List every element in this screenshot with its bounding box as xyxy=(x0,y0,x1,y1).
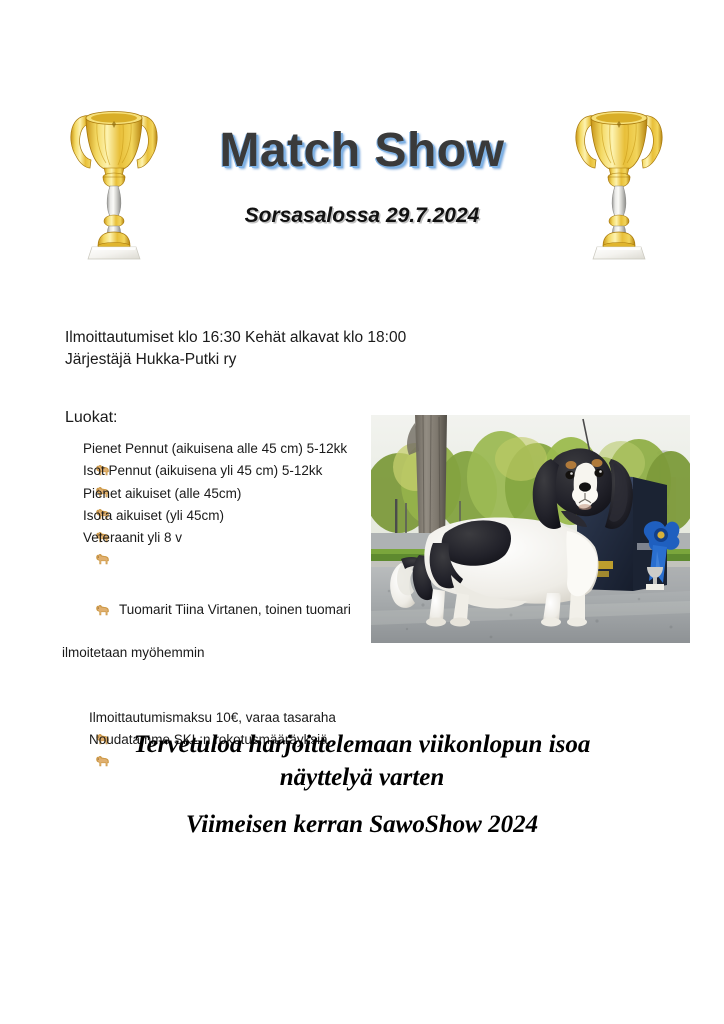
dog-bullet-icon xyxy=(65,463,80,477)
list-item: Ilmoittautumismaksu 10€, varaa tasaraha xyxy=(65,707,351,728)
list-item-label: Ilmoittautumismaksu 10€, varaa tasaraha xyxy=(89,707,336,728)
list-item: Tuomarit Tiina Virtanen, toinen tuomari … xyxy=(65,578,351,706)
list-item-label: Veteraanit yli 8 v xyxy=(83,527,182,548)
footer-line-3: Viimeisen kerran SawoShow 2024 xyxy=(60,808,664,841)
list-item-label: Isota aikuiset (yli 45cm) xyxy=(83,505,224,526)
list-item-label: Tuomarit Tiina Virtanen, toinen tuomari xyxy=(119,599,351,620)
dog-bullet-icon xyxy=(65,530,80,544)
dog-bullet-icon xyxy=(65,710,80,724)
event-info-line-2: Järjestäjä Hukka-Putki ry xyxy=(65,349,406,371)
list-item: Veteraanit yli 8 v xyxy=(65,527,347,548)
classes-list: Pienet Pennut (aikuisena alle 45 cm) 5-1… xyxy=(65,438,347,549)
dog-bullet-icon xyxy=(65,441,80,455)
list-item-label-wrap: ilmoitetaan myöhemmin xyxy=(62,642,351,663)
dog-bullet-icon xyxy=(65,508,80,522)
footer-text: Tervetuloa harjoittelemaan viikonlopun i… xyxy=(60,728,664,841)
list-item-label: Pienet Pennut (aikuisena alle 45 cm) 5-1… xyxy=(83,438,347,459)
list-item: Pienet aikuiset (alle 45cm) xyxy=(65,483,347,504)
list-item-label: Isot Pennut (aikuisena yli 45 cm) 5-12kk xyxy=(83,460,322,481)
page-title: Match Show xyxy=(0,126,724,176)
list-item-wrapper: Tuomarit Tiina Virtanen, toinen tuomari … xyxy=(89,578,351,706)
list-item: Isota aikuiset (yli 45cm) xyxy=(65,505,347,526)
footer-line-2: näyttelyä varten xyxy=(60,761,664,794)
page-subtitle: Sorsasalossa 29.7.2024 xyxy=(0,204,724,228)
poster-page: Match Show Sorsasalossa 29.7.2024 Ilmoit… xyxy=(0,0,724,1024)
list-item-label: Pienet aikuiset (alle 45cm) xyxy=(83,483,241,504)
notes-list: Tuomarit Tiina Virtanen, toinen tuomari … xyxy=(65,578,351,751)
dog-bullet-icon xyxy=(65,581,80,595)
event-info-line-1: Ilmoittautumiset klo 16:30 Kehät alkavat… xyxy=(65,327,406,349)
dog-photo xyxy=(371,415,690,643)
dog-bullet-icon xyxy=(65,486,80,500)
list-item: Pienet Pennut (aikuisena alle 45 cm) 5-1… xyxy=(65,438,347,459)
list-item: Isot Pennut (aikuisena yli 45 cm) 5-12kk xyxy=(65,460,347,481)
footer-line-1: Tervetuloa harjoittelemaan viikonlopun i… xyxy=(60,728,664,761)
event-info-block: Ilmoittautumiset klo 16:30 Kehät alkavat… xyxy=(65,327,406,372)
classes-heading: Luokat: xyxy=(65,409,117,427)
